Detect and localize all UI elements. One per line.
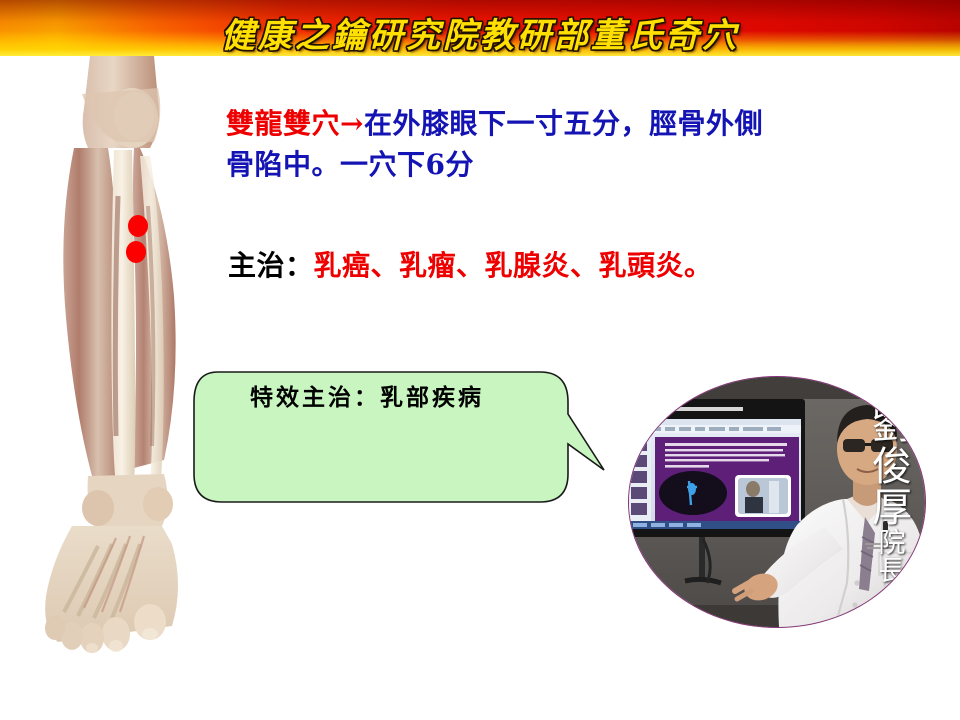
presenter-name-caption: 劉俊厚 院長 [869, 405, 915, 586]
presenter-name: 劉俊厚 [869, 405, 915, 530]
point-name: 雙龍雙穴 [226, 107, 340, 140]
callout-bubble: 特效主治：乳部疾病 [188, 358, 608, 510]
callout-bubble-text: 特效主治：乳部疾病 [250, 378, 570, 412]
arrow-glyph: → [340, 107, 364, 140]
page-title: 健康之鑰研究院教研部董氏奇穴 [0, 8, 960, 57]
point-location-line1: 在外膝眼下一寸五分，脛骨外側 [364, 107, 763, 140]
point-location-text: 雙龍雙穴→在外膝眼下一寸五分，脛骨外側 骨陷中。一穴下6分 [226, 104, 926, 185]
acupoint-marker-lower [126, 241, 146, 263]
indications-text: 主治：乳癌、乳瘤、乳腺炎、乳頭炎。 [228, 246, 928, 285]
point-location-line2: 骨陷中。一穴下6分 [226, 148, 474, 181]
indications-value: 乳癌、乳瘤、乳腺炎、乳頭炎。 [314, 249, 713, 282]
slide-canvas: 健康之鑰研究院教研部董氏奇穴 [0, 0, 960, 720]
presenter-photo: 劉俊厚 院長 [628, 376, 926, 628]
acupoint-marker-upper [128, 215, 148, 237]
indications-label: 主治： [228, 249, 314, 282]
presenter-title: 院長 [869, 530, 915, 586]
